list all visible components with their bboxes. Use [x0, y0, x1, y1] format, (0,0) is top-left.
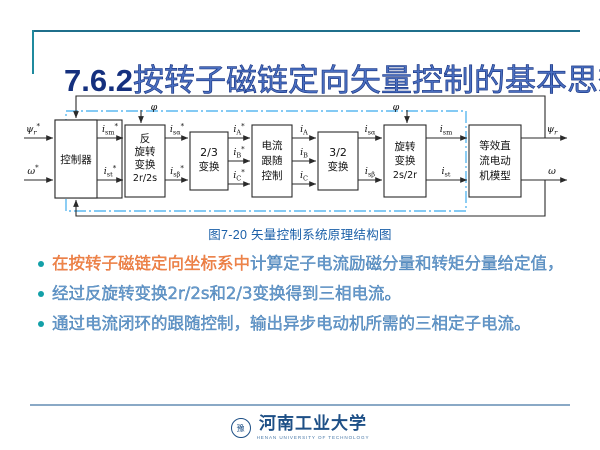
signal-isbeta-ref: isβ*	[170, 165, 184, 179]
list-item: 经过反旋转变换2r/2s和2/3变换得到三相电流。	[38, 282, 578, 305]
signal-psi-r: ψr	[547, 124, 558, 137]
bullet-text: 在按转子磁链定向坐标系中计算定子电流励磁分量和转矩分量给定值，	[52, 252, 564, 275]
svg-text:变换: 变换	[395, 154, 416, 167]
signal-ist: ist	[442, 166, 451, 179]
bullet-rest: 通过电流闭环的跟随控制，输出异步电动机所需的三相定子电流。	[52, 314, 531, 333]
block-label-rotation: 旋转	[395, 140, 416, 153]
signal-isalpha-ref: isα*	[170, 123, 185, 137]
signal-ia: iA	[300, 124, 308, 137]
signal-ia-ref: iA*	[233, 123, 245, 137]
svg-text:旋转: 旋转	[135, 145, 156, 158]
list-item: 通过电流闭环的跟随控制，输出异步电动机所需的三相定子电流。	[38, 312, 578, 335]
block-label-inverse-rotation: 反	[140, 133, 151, 145]
bullet-text: 经过反旋转变换2r/2s和2/3变换得到三相电流。	[52, 282, 401, 305]
svg-text:机模型: 机模型	[479, 169, 511, 182]
bullet-list: 在按转子磁链定向坐标系中计算定子电流励磁分量和转矩分量给定值， 经过反旋转变换2…	[38, 252, 578, 342]
svg-text:流电动: 流电动	[479, 154, 511, 167]
footer-divider	[30, 404, 570, 406]
bullet-rest: 经过反旋转变换2r/2s和2/3变换得到三相电流。	[52, 284, 401, 303]
svg-text:跟随: 跟随	[262, 154, 283, 167]
signal-isalpha: isα	[365, 124, 376, 137]
signal-isbeta: isβ	[365, 166, 375, 179]
bullet-dot-icon	[38, 291, 52, 297]
signal-phi-2: φ	[393, 102, 400, 113]
block-label-controller: 控制器	[60, 153, 92, 166]
signal-omega: ω	[548, 166, 556, 177]
signal-ib-ref: iB*	[233, 146, 245, 160]
svg-text:2r/2s: 2r/2s	[133, 173, 157, 184]
signal-ism: ism	[440, 124, 453, 137]
block-label-dc-motor-model: 等效直	[479, 139, 511, 152]
block-diagram: 控制器 反 旋转 变换 2r/2s 2/3 变换 电流 跟随 控制 3/2 变换…	[22, 90, 582, 222]
svg-text:2s/2r: 2s/2r	[393, 170, 417, 181]
block-label-three-two: 3/2	[329, 146, 347, 159]
bullet-rest: 计算定子电流励磁分量和转矩分量给定值，	[250, 254, 564, 273]
signal-psi-r-ref: ψr*	[26, 123, 41, 137]
logo-name-en: HENAN UNIVERSITY OF TECHNOLOGY	[257, 435, 370, 440]
figure-caption: 图7-20 矢量控制系统原理结构图	[0, 224, 600, 243]
signal-omega-ref: ω*	[27, 164, 39, 177]
seal-icon: 豫	[231, 418, 251, 438]
title-bar: 7.6.2按转子磁链定向矢量控制的基本思想	[28, 28, 580, 74]
seal-char: 豫	[237, 423, 245, 434]
svg-text:变换: 变换	[135, 158, 156, 171]
svg-text:变换: 变换	[199, 160, 220, 173]
list-item: 在按转子磁链定向坐标系中计算定子电流励磁分量和转矩分量给定值，	[38, 252, 578, 275]
block-label-two-three: 2/3	[200, 146, 218, 159]
signal-phi-1: φ	[151, 102, 158, 113]
bullet-dot-icon	[38, 261, 52, 267]
signal-ic-ref: iC*	[233, 169, 245, 183]
svg-text:控制: 控制	[262, 169, 283, 182]
bullet-text: 通过电流闭环的跟随控制，输出异步电动机所需的三相定子电流。	[52, 312, 531, 335]
logo-name-cn: 河南工业大学	[259, 416, 367, 433]
bullet-highlight: 在按转子磁链定向坐标系中	[52, 254, 250, 273]
block-label-current-tracking: 电流	[262, 139, 283, 152]
university-logo: 豫 河南工业大学 HENAN UNIVERSITY OF TECHNOLOGY	[0, 410, 600, 446]
signal-ib: iB	[300, 147, 308, 160]
svg-text:变换: 变换	[328, 160, 349, 173]
signal-ic: iC	[300, 170, 308, 183]
bullet-dot-icon	[38, 321, 52, 327]
